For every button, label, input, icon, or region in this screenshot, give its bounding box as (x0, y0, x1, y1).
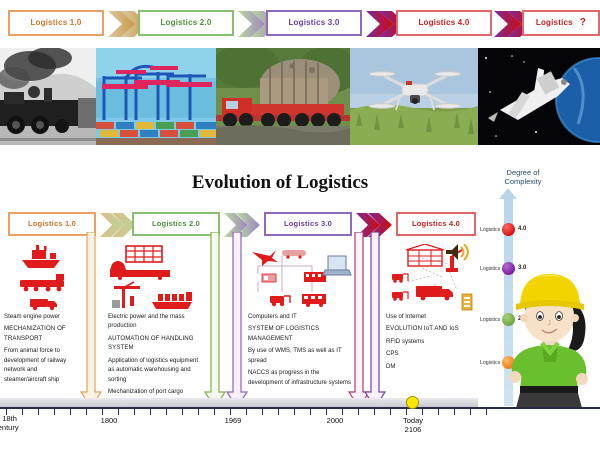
timeline-connector-arrow-5 (364, 232, 386, 410)
top-box-logistics-3: Logistics 3.0 (266, 10, 362, 36)
col3-line-4: NACCS as progress in the development of … (248, 368, 352, 387)
forklift-icon (270, 296, 290, 306)
warehouse-icon (262, 274, 276, 282)
timeline-label-1800: 1800 (94, 416, 124, 425)
page-title: Evolution of Logistics (120, 172, 440, 194)
column-logistics-3: Computers and IT SYSTEM OF LOGISTICS MAN… (248, 244, 352, 390)
truck-icon (30, 299, 57, 310)
col2-line-4: Mechanization of port cargo (108, 387, 202, 396)
cargo-ship-icon (152, 292, 192, 309)
airplane-icon (252, 250, 278, 266)
wifi-signal-icon (446, 244, 468, 260)
col3-line-1: Computers and IT (248, 312, 352, 321)
col4-line-2: EVOLUTION IoT AND IoS (386, 324, 476, 333)
row2-box-logistics-3-label: Logistics 3.0 (284, 220, 332, 228)
infographic-root: Logistics 1.0 Logistics 2.0 Logistics 3.… (0, 0, 600, 450)
top-box-logistics-1: Logistics 1.0 (8, 10, 104, 36)
col2-line-2: AUTOMATION OF HANDLING SYSTEM (108, 334, 202, 353)
complexity-label-line2: Complexity (488, 177, 558, 186)
cargo-truck-icon (302, 294, 326, 307)
forklift-icon-2 (392, 292, 408, 301)
top-box-logistics-2-label: Logistics 2.0 (160, 19, 211, 27)
top-box-logistics-4-label: Logistics 4.0 (418, 19, 469, 27)
complexity-axis-label: Degree of Complexity (488, 168, 558, 187)
col4-line-3: RFID systems (386, 337, 476, 346)
forklift-icon (392, 274, 408, 283)
col1-line-3: From animal force to development of rail… (4, 346, 78, 384)
col4-line-4: CPS (386, 349, 476, 358)
complexity-dot-num-4: 4.0 (518, 226, 526, 232)
column-logistics-3-text: Computers and IT SYSTEM OF LOGISTICS MAN… (248, 312, 352, 387)
column-logistics-3-icons (248, 244, 352, 312)
column-logistics-2-text: Electric power and the mass production A… (108, 312, 202, 397)
complexity-dot-label-4: Logistics (480, 227, 500, 233)
timeline-label-today-line2: 2106 (392, 425, 434, 434)
connected-truck-icon (416, 286, 453, 300)
top-box-logistics-3-label: Logistics 3.0 (288, 19, 339, 27)
column-logistics-4-icons (386, 244, 482, 312)
port-crane-icon (112, 282, 140, 308)
column-logistics-1-text: Steam engine power MECHANIZATION OF TRAN… (4, 312, 78, 384)
top-box-logistics-future: Logistics ? (522, 10, 600, 36)
column-logistics-1-icons (4, 244, 80, 312)
col1-line-1: Steam engine power (4, 312, 78, 321)
col3-line-3: By use of WMS, TMS as well as IT spread (248, 346, 352, 365)
col4-line-1: Use of Internet (386, 312, 476, 321)
col4-line-5: DM (386, 362, 476, 371)
timeline-axis (0, 407, 600, 409)
col2-line-3: Application of logistics equipment as au… (108, 356, 202, 384)
building-icon (304, 272, 326, 282)
container-port-photo (96, 48, 216, 145)
complexity-dot-logistics-4 (502, 223, 515, 236)
top-phase-banner: Logistics 1.0 Logistics 2.0 Logistics 3.… (0, 6, 600, 42)
complexity-label-line1: Degree of (488, 168, 558, 177)
col1-line-2: MECHANIZATION OF TRANSPORT (4, 324, 78, 343)
timeline-label-2000: 2000 (320, 416, 350, 425)
timeline-label-18th-century-line1: of 18th (0, 414, 48, 423)
column-logistics-1: Steam engine power MECHANIZATION OF TRAN… (4, 244, 80, 387)
timeline-connector-arrow-1 (80, 232, 102, 410)
timeline-connector-arrow-3 (226, 232, 248, 410)
space-shuttle-photo (478, 48, 600, 145)
col3-line-2: SYSTEM OF LOGISTICS MANAGEMENT (248, 324, 352, 343)
row2-box-logistics-4-label: Logistics 4.0 (412, 220, 460, 228)
row2-box-logistics-4: Logistics 4.0 (396, 212, 476, 236)
col2-line-1: Electric power and the mass production (108, 312, 202, 331)
top-box-logistics-1-label: Logistics 1.0 (30, 19, 81, 27)
timeline-label-today: Today 2106 (392, 416, 434, 434)
top-box-logistics-future-label: Logistics (536, 19, 573, 27)
question-mark-icon: ? (580, 18, 586, 28)
drone-photo (350, 48, 478, 145)
timeline-label-18th-century: of 18th century (0, 414, 48, 432)
timeline-label-1969: 1969 (218, 416, 248, 425)
column-logistics-2: Electric power and the mass production A… (108, 244, 202, 400)
column-logistics-2-icons (108, 244, 202, 312)
heavy-haul-truck-photo (216, 48, 350, 145)
steam-train-icon (20, 274, 64, 291)
laptop-icon (323, 256, 351, 275)
train-top-icon (282, 250, 306, 259)
container-stack-icon (110, 246, 170, 280)
steam-locomotive-photo (0, 48, 96, 145)
timeline-connector-arrow-2 (204, 232, 226, 410)
photo-strip (0, 48, 600, 145)
timeline-label-18th-century-line2: century (0, 423, 48, 432)
today-marker-dot (406, 396, 419, 409)
smart-warehouse-icon (406, 244, 444, 266)
row2-box-logistics-2-label: Logistics 2.0 (152, 220, 200, 228)
top-box-logistics-4: Logistics 4.0 (396, 10, 492, 36)
server-rack-icon (462, 294, 472, 310)
column-logistics-4-text: Use of Internet EVOLUTION IoT AND IoS RF… (386, 312, 476, 371)
logistics-worker-character (498, 258, 600, 410)
column-logistics-4: Use of Internet EVOLUTION IoT AND IoS RF… (386, 244, 482, 374)
timeline-label-today-line1: Today (392, 416, 434, 425)
top-box-logistics-2: Logistics 2.0 (138, 10, 234, 36)
row2-box-logistics-3: Logistics 3.0 (264, 212, 352, 236)
steamship-icon (22, 245, 60, 268)
row2-box-logistics-1-label: Logistics 1.0 (28, 220, 76, 228)
row2-chevron-1 (100, 212, 136, 238)
